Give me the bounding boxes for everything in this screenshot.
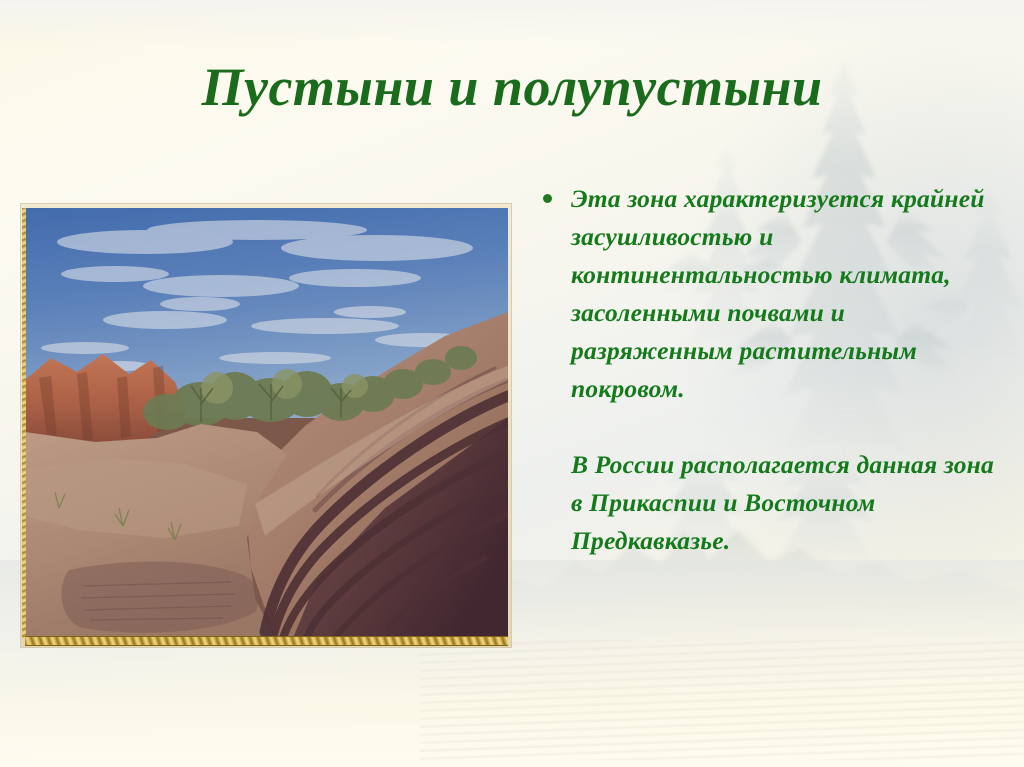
photo-frame [21, 204, 511, 647]
bullet-text-1: Эта зона характеризуется крайней засушли… [571, 180, 1003, 408]
bullet-text-2: В России располагается данная зона в При… [533, 446, 1003, 560]
desert-dunes-photo [25, 208, 508, 638]
page-title: Пустыни и полупустыни [0, 58, 1024, 117]
content-body: Эта зона характеризуется крайней засушли… [533, 180, 1003, 560]
slide: Пустыни и полупустыни [0, 0, 1024, 767]
bullet-dot-icon [543, 194, 552, 203]
rope-border-bottom-icon [25, 636, 508, 646]
water-streaks [420, 640, 1024, 760]
list-item: Эта зона характеризуется крайней засушли… [533, 180, 1003, 408]
rope-border-left-icon [22, 208, 26, 638]
